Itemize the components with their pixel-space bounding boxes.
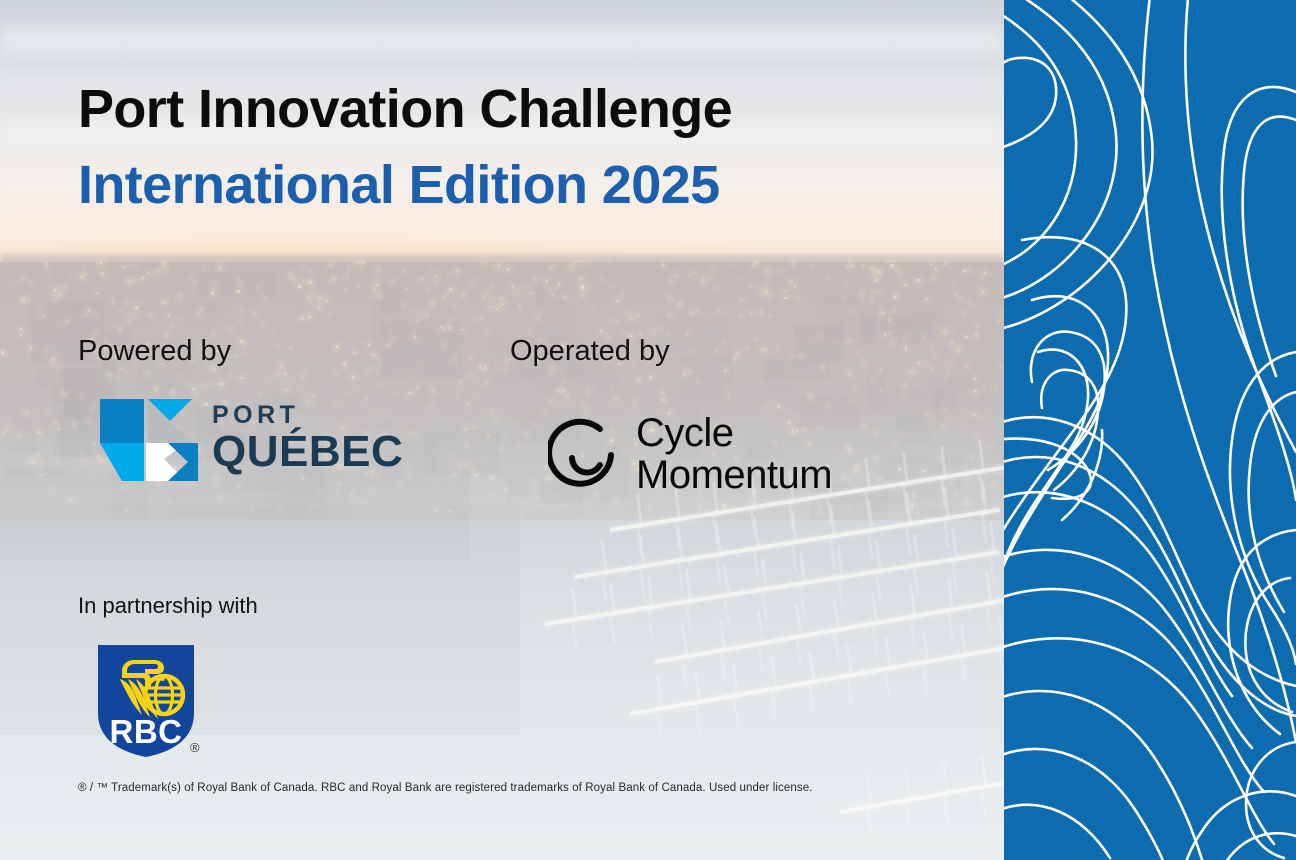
page-title-line2: International Edition 2025 [78, 158, 720, 212]
cycle-momentum-mark-icon [548, 418, 622, 492]
topographic-contour-lines [1004, 0, 1296, 860]
page-title-line1: Port Innovation Challenge [78, 82, 732, 136]
topographic-panel [1004, 0, 1296, 860]
cycle-momentum-wordmark: Cycle Momentum [636, 412, 832, 497]
port-quebec-wordmark: PORT QUÉBEC [212, 403, 402, 475]
operated-by-label: Operated by [510, 337, 670, 366]
banner-content: Port Innovation Challenge International … [0, 0, 1004, 860]
promo-banner: Port Innovation Challenge International … [0, 0, 1296, 860]
powered-by-label: Powered by [78, 337, 231, 366]
logo-port-quebec: PORT QUÉBEC [100, 399, 400, 481]
port-quebec-word-top: PORT [212, 403, 402, 428]
port-quebec-mark-icon [100, 399, 198, 481]
trademark-notice: ® / ™ Trademark(s) of Royal Bank of Cana… [78, 782, 812, 794]
partnership-label: In partnership with [78, 595, 258, 617]
rbc-shield-icon: RBC [98, 645, 194, 757]
logo-cycle-momentum: Cycle Momentum [548, 412, 868, 500]
cycle-momentum-word-line2: Momentum [636, 454, 832, 496]
rbc-registered-mark: ® [190, 740, 200, 755]
svg-text:RBC: RBC [110, 713, 183, 750]
cycle-momentum-word-line1: Cycle [636, 412, 832, 454]
port-quebec-word-bottom: QUÉBEC [212, 430, 402, 475]
logo-rbc: RBC [98, 645, 194, 757]
